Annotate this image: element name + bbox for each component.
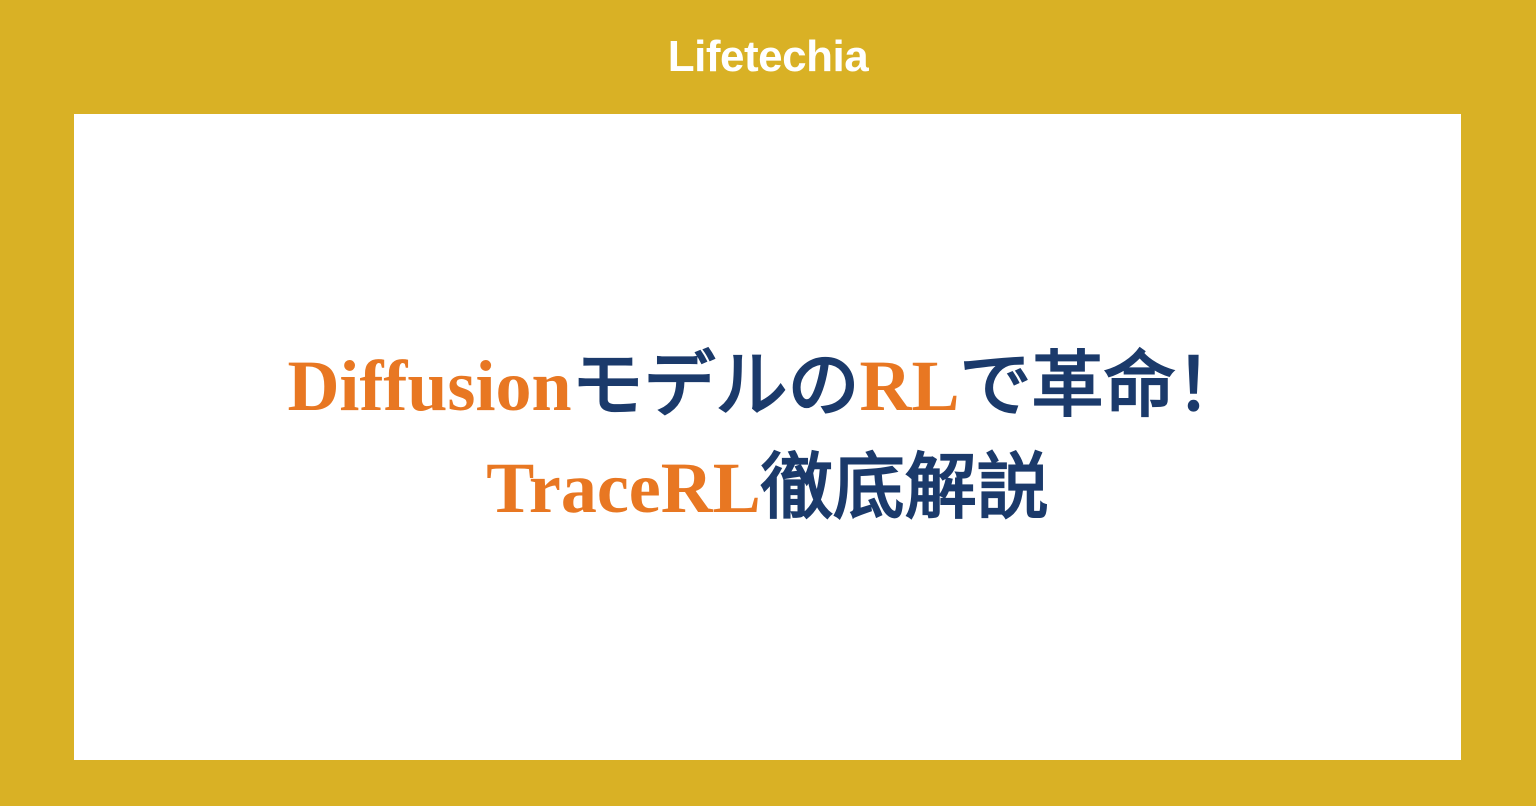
site-brand-title: Lifetechia [668,35,868,79]
headline-accent-text: TraceRL [486,448,761,528]
headline-base-text: モデルの [572,346,860,426]
headline-accent-text: RL [860,346,960,426]
content-card: DiffusionモデルのRLで革命！TraceRL徹底解説 [74,114,1461,760]
headline-accent-text: Diffusion [287,346,571,426]
site-header: Lifetechia [0,0,1536,114]
headline-line: TraceRL徹底解説 [104,437,1431,539]
headline-line: DiffusionモデルのRLで革命！ [104,335,1431,437]
eyecatch-canvas: Lifetechia DiffusionモデルのRLで革命！TraceRL徹底解… [0,0,1536,806]
headline-base-text: で革命！ [960,346,1248,426]
headline-base-text: 徹底解説 [761,448,1049,528]
headline: DiffusionモデルのRLで革命！TraceRL徹底解説 [74,335,1461,539]
